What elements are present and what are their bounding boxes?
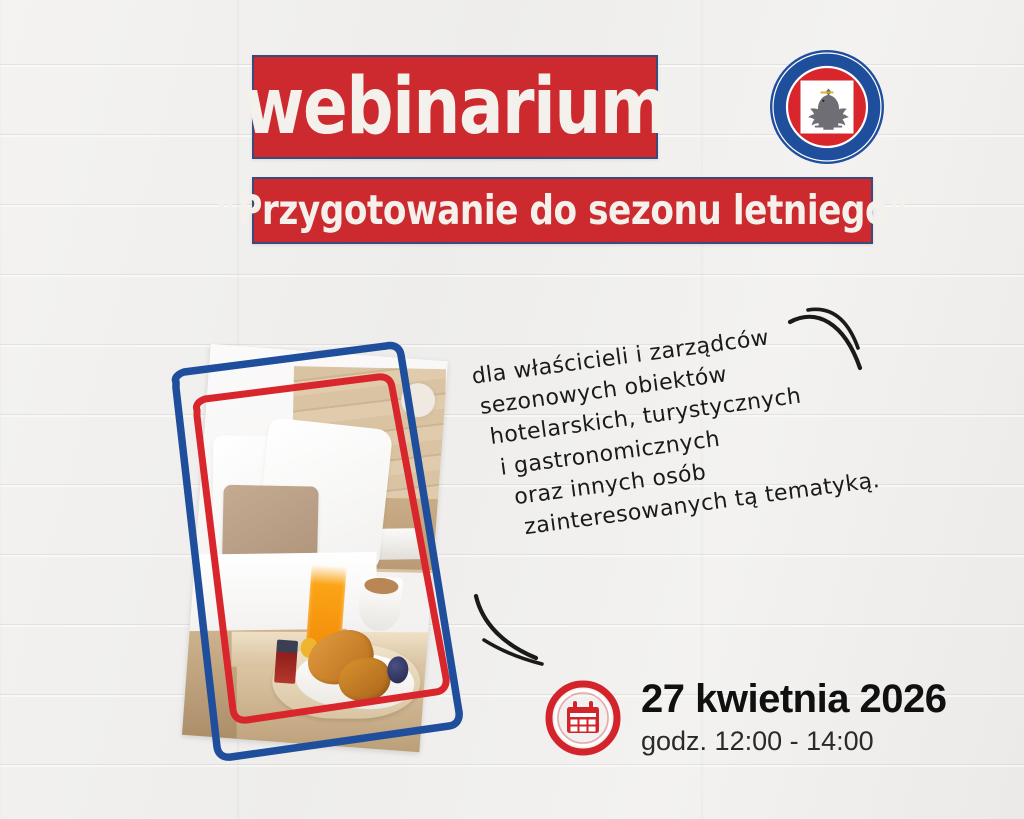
title-banner: webinarium [252, 55, 658, 159]
subtitle-text: “Przygotowanie do sezonu letniego” [215, 190, 910, 231]
event-datetime-text: 27 kwietnia 2026 godz. 12:00 - 14:00 [641, 678, 947, 757]
title-text: webinarium [243, 68, 667, 146]
event-date: 27 kwietnia 2026 [641, 678, 947, 720]
event-time: godz. 12:00 - 14:00 [641, 726, 947, 757]
event-datetime-block: 27 kwietnia 2026 godz. 12:00 - 14:00 [545, 678, 947, 757]
photo-scene [182, 344, 448, 752]
photo-block [150, 330, 480, 770]
description-handwriting: dla właścicieli i zarządców sezonowych o… [470, 305, 921, 548]
hotel-breakfast-in-bed-photo [182, 344, 448, 752]
subtitle-banner: “Przygotowanie do sezonu letniego” [252, 177, 873, 244]
webinar-poster: webinarium “Przygotowanie do sezonu letn… [0, 0, 1024, 819]
calendar-icon [545, 680, 621, 756]
panstwowa-inspekcja-sanitarna-logo [767, 47, 887, 167]
